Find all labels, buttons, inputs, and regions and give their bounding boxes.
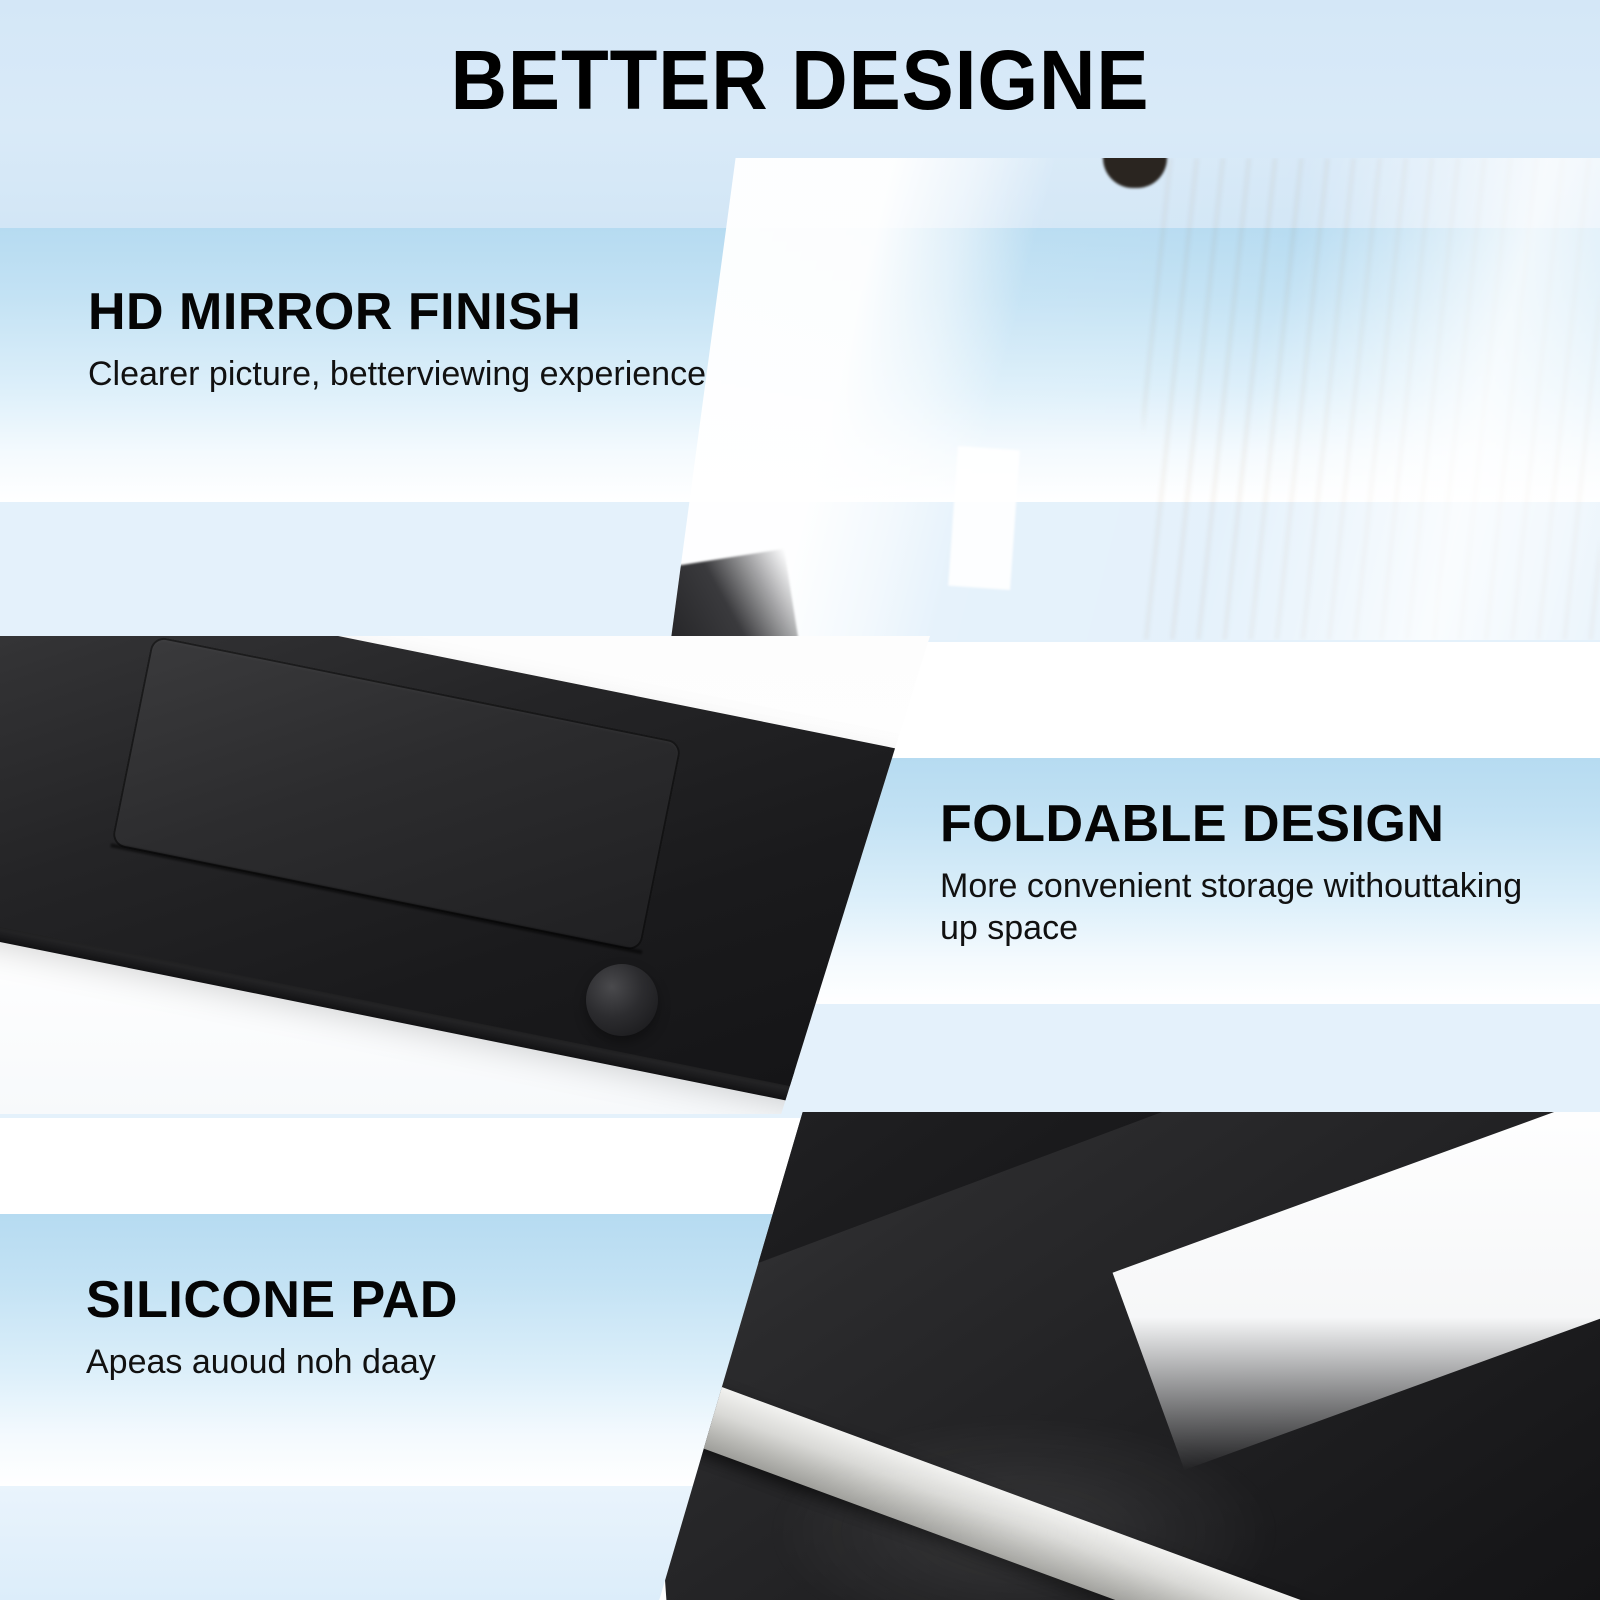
feature-subtitle-silicone-pad: Apeas auoud noh daay [86,1342,458,1383]
feature-heading-silicone-pad: SILICONE PAD [86,1272,458,1328]
feature-heading-foldable-design: FOLDABLE DESIGN [940,796,1560,852]
photo-hd-mirror-finish [648,158,1600,640]
feature-subtitle-foldable-design: More convenient storage withouttaking up… [940,866,1560,949]
feature-subtitle-hd-mirror-finish: Clearer picture, betterviewing experienc… [88,354,706,395]
feature-heading-hd-mirror-finish: HD MIRROR FINISH [88,284,706,340]
surface-glow [764,1412,1284,1600]
feature-text-foldable-design: FOLDABLE DESIGN More convenient storage … [940,796,1560,949]
glass-reflection-overlay [648,158,1600,640]
photo-foldable-design [0,636,930,1114]
photo-silicone-pad [644,1112,1600,1600]
feature-text-silicone-pad: SILICONE PAD Apeas auoud noh daay [86,1272,458,1384]
specular-highlight [948,446,1020,590]
stand-hinge-knob [586,964,658,1036]
product-infographic-poster: BETTER DESIGNE HD MIRROR FINISH Clearer … [0,0,1600,1600]
page-title: BETTER DESIGNE [56,36,1544,124]
feature-text-hd-mirror-finish: HD MIRROR FINISH Clearer picture, better… [88,284,706,396]
